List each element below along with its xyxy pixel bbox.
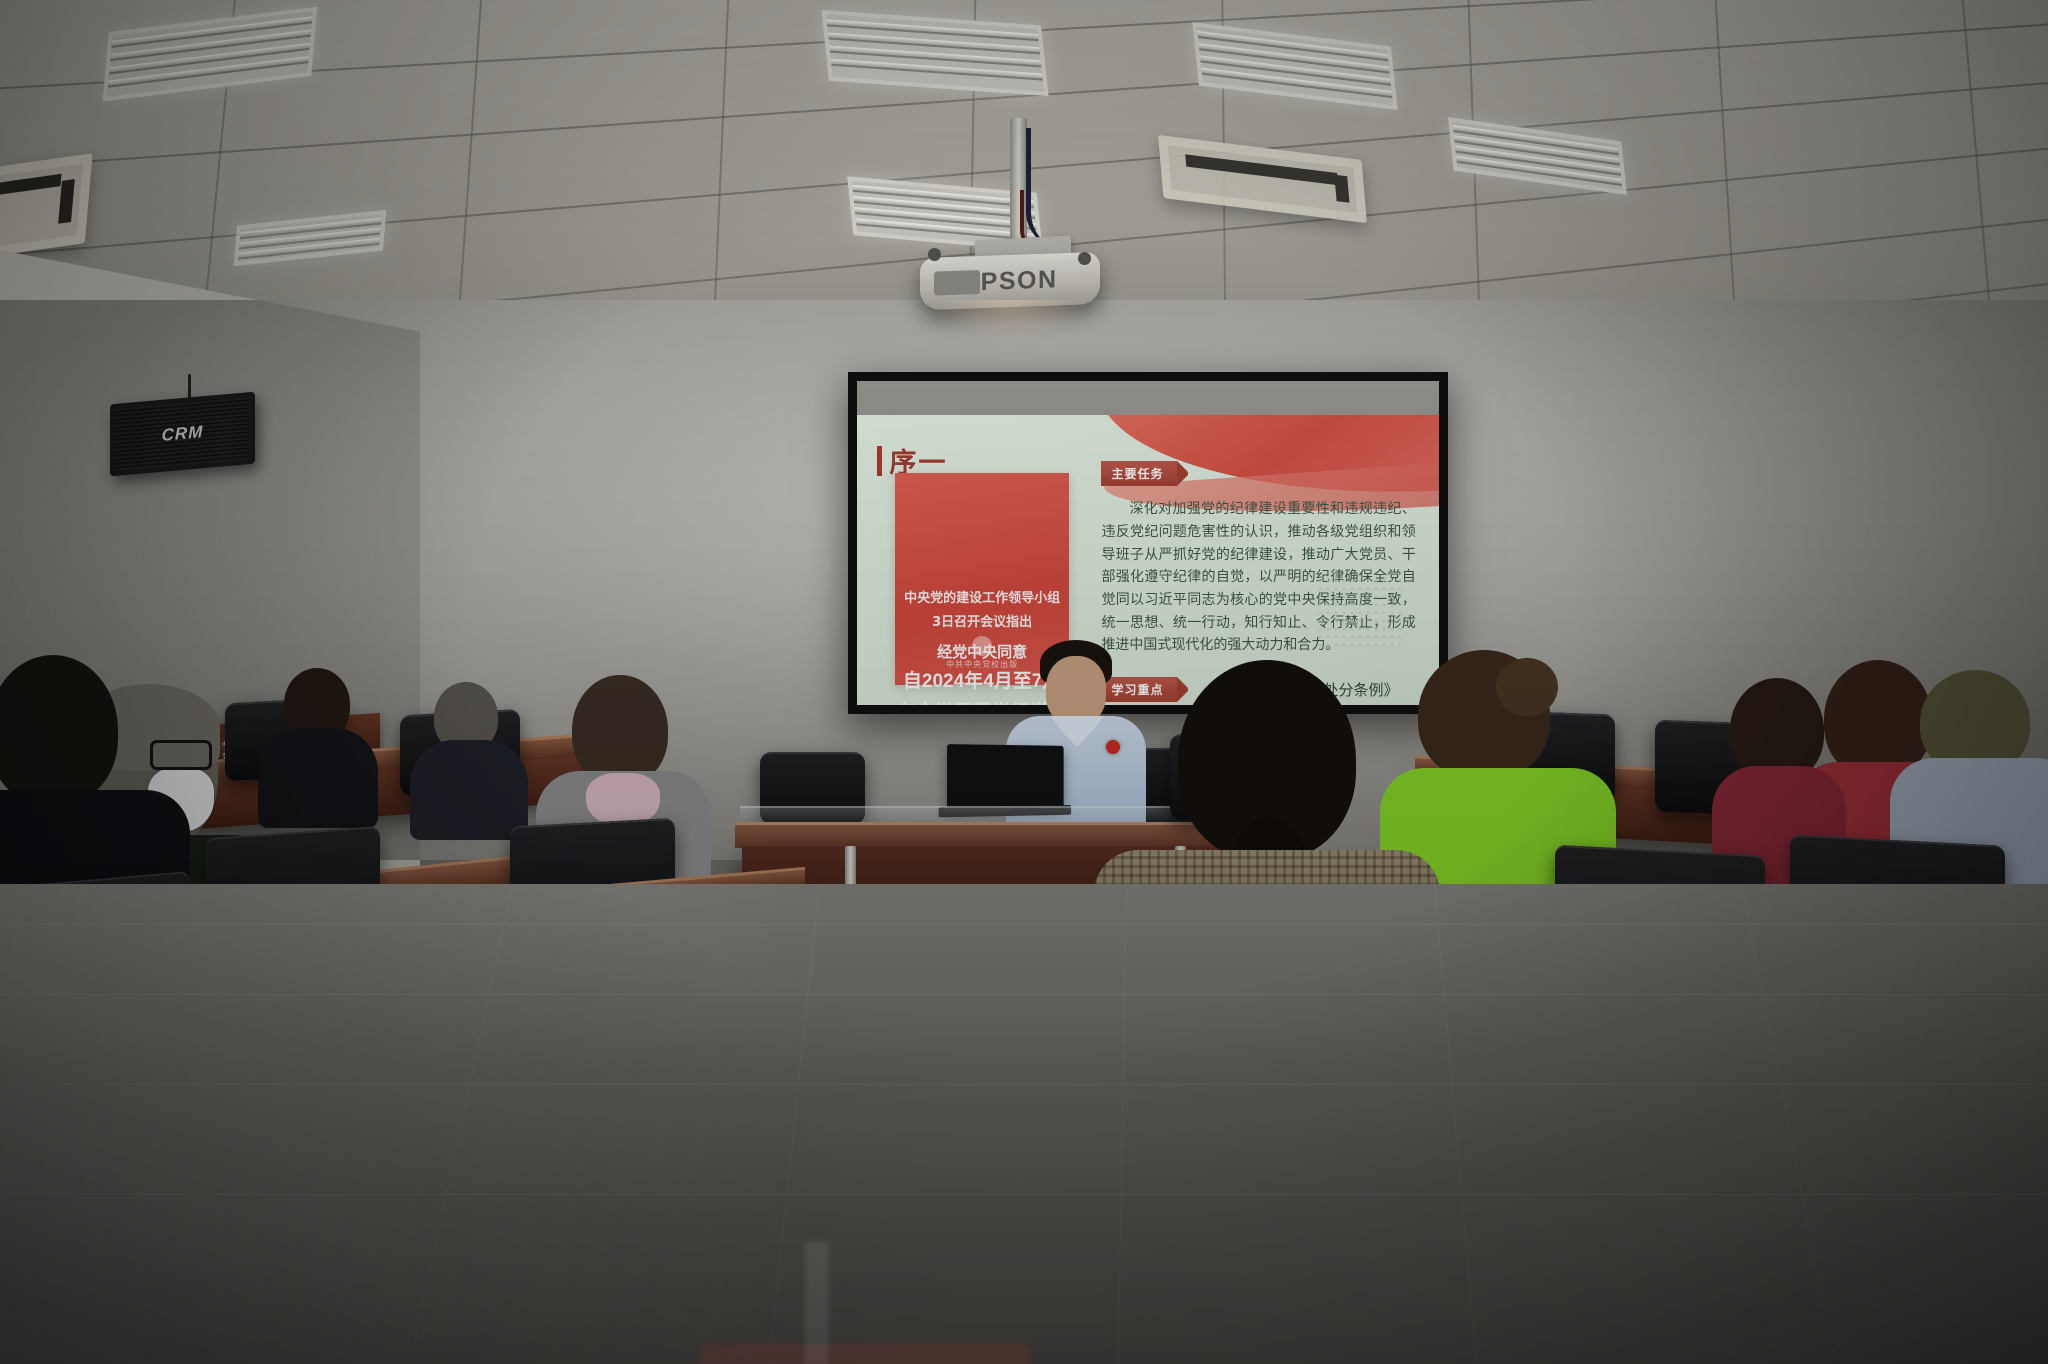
title-accent-bar bbox=[877, 446, 882, 476]
torso bbox=[258, 728, 378, 828]
floor-sheen bbox=[0, 884, 2048, 1364]
speaker-brand-label: CRM bbox=[162, 422, 204, 446]
speaker-cable bbox=[188, 374, 191, 400]
head bbox=[572, 675, 668, 785]
recessed-light-panel bbox=[234, 210, 387, 266]
conference-room-scene: CRM EPSON 序一 中央党的建设工作领导小组 3日召开会议指出 经党中央 bbox=[0, 0, 2048, 1364]
red-card-line1: 中央党的建设工作领导小组 bbox=[904, 589, 1060, 609]
recessed-light-panel bbox=[103, 7, 317, 102]
attendee-dark-coat bbox=[258, 668, 378, 818]
floor bbox=[0, 884, 2048, 1364]
emblem-circle-icon bbox=[972, 636, 992, 656]
red-card-line2: 3日召开会议指出 bbox=[932, 613, 1032, 633]
presenter-head bbox=[1046, 656, 1106, 724]
attendee-grey-hair bbox=[410, 682, 528, 832]
presenter-laptop bbox=[947, 744, 1064, 808]
tag-main-task: 主要任务 bbox=[1101, 461, 1177, 486]
projector-lamp-glow bbox=[930, 300, 1090, 338]
torso bbox=[410, 740, 528, 840]
hair-bun bbox=[1496, 658, 1558, 716]
wall-speaker: CRM bbox=[110, 392, 255, 477]
projector-lens-panel bbox=[934, 270, 980, 296]
ceiling-ac-diffuser bbox=[1158, 135, 1367, 223]
recessed-light-panel bbox=[822, 10, 1049, 96]
decorative-dot-pattern bbox=[1316, 577, 1406, 647]
head bbox=[0, 655, 118, 805]
